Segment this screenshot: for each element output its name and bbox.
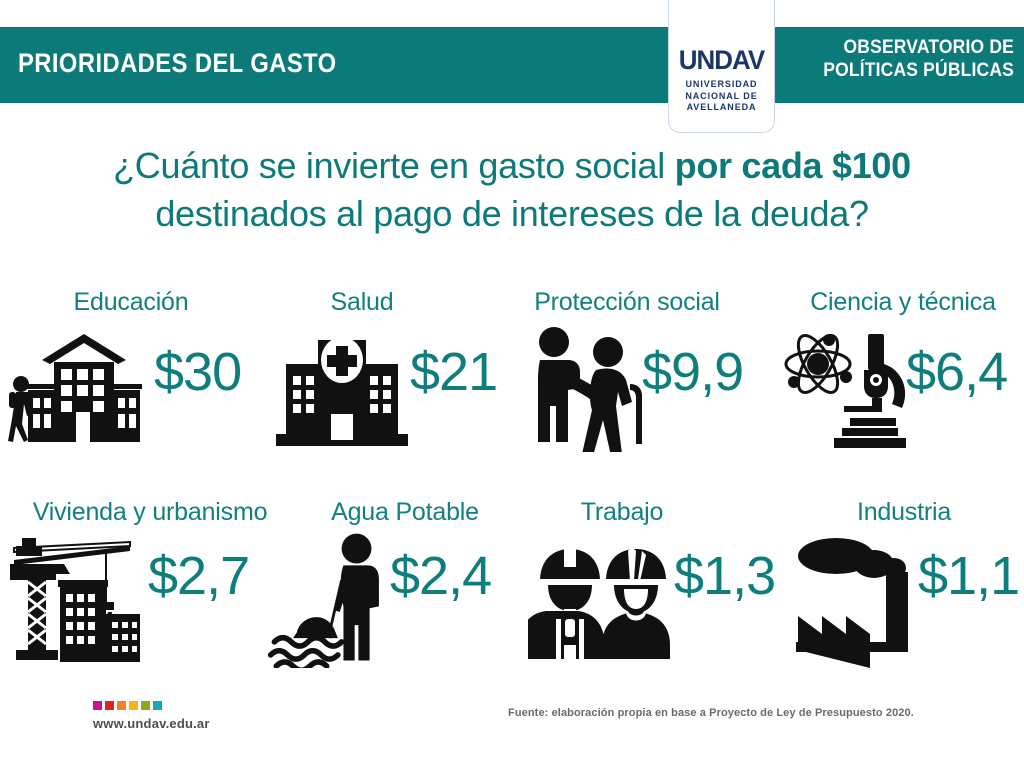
- swatch-1: [93, 701, 102, 710]
- item-amount: $6,4: [906, 342, 1007, 402]
- source-note: Fuente: elaboración propia en base a Pro…: [508, 707, 914, 719]
- page-title: PRIORIDADES DEL GASTO: [18, 48, 337, 79]
- item-ciencia-tecnica: Ciencia y técnica: [782, 288, 1024, 468]
- item-label: Protección social: [512, 288, 742, 317]
- item-amount: $1,3: [674, 546, 775, 606]
- undav-logo-panel: UNDAV UNIVERSIDAD NACIONAL DE AVELLANEDA: [668, 0, 775, 133]
- question-line-1: ¿Cuánto se invierte en gasto social por …: [0, 142, 1024, 190]
- undav-logo-line-3: AVELLANEDA: [669, 102, 774, 114]
- item-label: Vivienda y urbanismo: [0, 498, 300, 527]
- water-worker-icon: [266, 528, 406, 668]
- item-salud: Salud: [262, 288, 502, 468]
- item-amount: $2,7: [148, 546, 249, 606]
- item-label: Industria: [804, 498, 1004, 527]
- item-vivienda-urbanismo: Vivienda y urbanismo: [0, 498, 270, 688]
- question-line-1-bold: por cada $100: [675, 145, 911, 186]
- elderly-care-icon: [526, 322, 656, 452]
- item-amount: $21: [410, 342, 497, 402]
- question-line-1-normal: ¿Cuánto se invierte en gasto social: [113, 145, 675, 186]
- question-headline: ¿Cuánto se invierte en gasto social por …: [0, 142, 1024, 238]
- observatory-line-1: OBSERVATORIO DE: [775, 36, 1014, 59]
- item-label: Agua Potable: [290, 498, 520, 527]
- undav-wordmark: UNDAV: [671, 45, 772, 76]
- school-icon: [6, 322, 154, 452]
- swatch-5: [141, 701, 150, 710]
- observatory-line-2: POLÍTICAS PÚBLICAS: [775, 59, 1014, 82]
- item-industria: Industria $1,1: [784, 498, 1024, 688]
- item-label: Trabajo: [522, 498, 722, 527]
- undav-logo-line-2: NACIONAL DE: [669, 91, 774, 103]
- item-label: Educación: [6, 288, 256, 317]
- item-amount: $1,1: [918, 546, 1019, 606]
- crane-buildings-icon: [2, 528, 152, 668]
- observatory-title: OBSERVATORIO DE POLÍTICAS PÚBLICAS: [754, 36, 1014, 82]
- website-url[interactable]: www.undav.edu.ar: [93, 716, 210, 731]
- swatch-6: [153, 701, 162, 710]
- item-label: Salud: [262, 288, 462, 317]
- undav-color-swatches: [93, 701, 162, 710]
- swatch-2: [105, 701, 114, 710]
- swatch-4: [129, 701, 138, 710]
- undav-logo-line-1: UNIVERSIDAD: [669, 79, 774, 91]
- item-amount: $2,4: [390, 546, 491, 606]
- item-trabajo: Trabajo: [522, 498, 772, 688]
- question-line-2: destinados al pago de intereses de la de…: [0, 190, 1024, 238]
- infographic-page: PRIORIDADES DEL GASTO OBSERVATORIO DE PO…: [0, 0, 1024, 768]
- factory-icon: [790, 528, 930, 668]
- swatch-3: [117, 701, 126, 710]
- item-agua-potable: Agua Potable: [266, 498, 516, 688]
- item-educacion: Educación: [6, 288, 256, 468]
- atom-microscope-icon: [780, 322, 920, 452]
- item-label: Ciencia y técnica: [782, 288, 1024, 317]
- undav-logo-subtitle: UNIVERSIDAD NACIONAL DE AVELLANEDA: [669, 79, 774, 114]
- workers-icon: [528, 528, 678, 668]
- item-amount: $30: [154, 342, 241, 402]
- item-proteccion-social: Protección social $9,9: [512, 288, 762, 468]
- hospital-icon: [268, 322, 416, 452]
- item-amount: $9,9: [642, 342, 743, 402]
